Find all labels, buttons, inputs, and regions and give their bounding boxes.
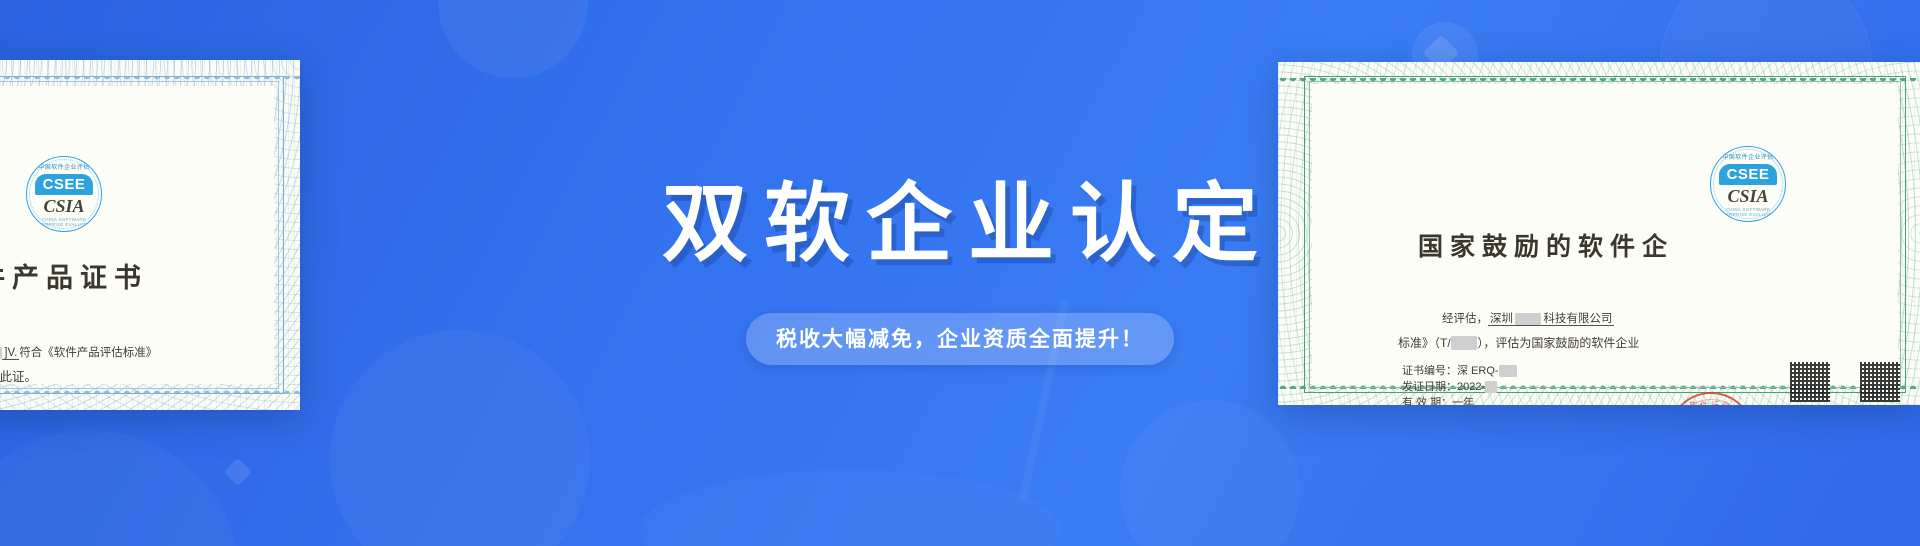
page-title: 双软企业认定 — [646, 181, 1274, 267]
cert-no-value: 深 ERQ- — [1457, 365, 1499, 377]
certificate-right-validity: 有 效 期：一年 — [1402, 394, 1474, 405]
certificate-right: 中国软件企业评估 CSEE CSIA CHINA SOFTWARE ENTERP… — [1278, 62, 1920, 405]
issue-date-label: 发证日期： — [1402, 381, 1457, 393]
issue-date-value: 2022- — [1457, 381, 1485, 393]
subtitle-pill: 税收大幅减免，企业资质全面提升！ — [746, 313, 1174, 365]
validity-label: 有 效 期： — [1402, 397, 1452, 405]
redacted-block — [1499, 365, 1517, 377]
eval-company: 深圳 — [1488, 313, 1515, 326]
logo-brand-label: CSIA — [1711, 187, 1785, 205]
certificate-right-title: 国家鼓励的软件企 — [1418, 227, 1674, 263]
redacted-block — [1451, 336, 1478, 350]
logo-top-arc-label: 中国软件企业评估 — [1711, 152, 1785, 161]
certificate-right-standard-line: 标准》（T/ ），评估为国家鼓励的软件企业 — [1398, 334, 1639, 351]
qr-code-icon — [1860, 362, 1900, 402]
redacted-block — [1515, 313, 1541, 326]
certificate-right-issue-date: 发证日期：2022- — [1402, 378, 1497, 394]
redacted-block — [1485, 381, 1497, 393]
stamp-label: 软件行业 — [1670, 400, 1752, 405]
logo-badge-label: CSEE — [1727, 167, 1770, 182]
eval-company-tail: 科技有限公司 — [1541, 313, 1614, 326]
standard-prefix: 标准》（T/ — [1398, 336, 1451, 350]
certificate-right-inner: 中国软件企业评估 CSEE CSIA CHINA SOFTWARE ENTERP… — [1278, 62, 1920, 405]
certificate-right-cert-no: 证书编号：深 ERQ- — [1402, 362, 1517, 378]
logo-bottom-arc-label: CHINA SOFTWARE ENTERPRISE EVALUATION — [1711, 207, 1785, 217]
csee-csia-logo-icon: 中国软件企业评估 CSEE CSIA CHINA SOFTWARE ENTERP… — [1710, 146, 1786, 222]
standard-tail: ），评估为国家鼓励的软件企业 — [1477, 336, 1639, 350]
logo-badge: CSEE — [1719, 164, 1777, 185]
validity-value: 一年 — [1452, 397, 1474, 405]
certificate-right-eval-line: 经评估，深圳 科技有限公司 — [1442, 310, 1614, 326]
promo-banner: 中国软件企业评估 CSEE CSIA CHINA SOFTWARE ENTERP… — [0, 0, 1920, 546]
qr-code-icon — [1790, 362, 1830, 402]
eval-prefix: 经评估， — [1442, 313, 1488, 325]
cert-no-label: 证书编号： — [1402, 365, 1457, 377]
